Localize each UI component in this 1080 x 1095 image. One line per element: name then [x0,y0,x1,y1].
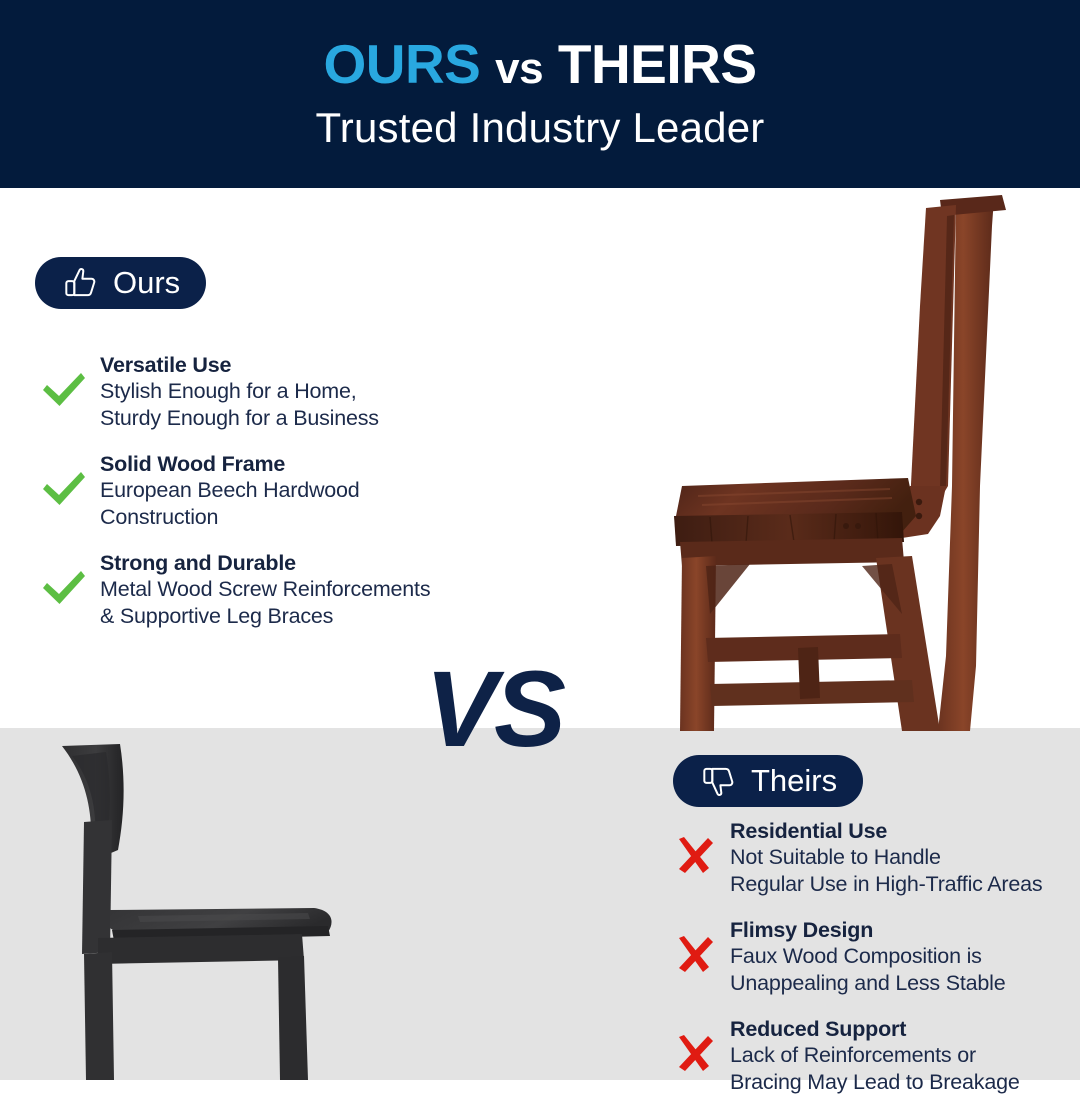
cross-icon [668,1016,720,1074]
check-icon [38,352,90,410]
item-desc-line: Construction [100,504,360,530]
title-theirs-word: THEIRS [558,33,757,95]
item-desc-line: Faux Wood Composition is [730,943,1006,969]
item-title: Reduced Support [730,1016,1020,1042]
ours-feature-list: Versatile Use Stylish Enough for a Home,… [38,352,538,629]
item-title: Flimsy Design [730,917,1006,943]
list-item: Residential Use Not Suitable to Handle R… [668,818,1080,897]
item-title: Strong and Durable [100,550,430,576]
item-desc-line: Sturdy Enough for a Business [100,405,379,431]
list-item-text: Solid Wood Frame European Beech Hardwood… [90,451,360,530]
list-item: Solid Wood Frame European Beech Hardwood… [38,451,538,530]
black-chair-image [28,722,388,1080]
list-item-text: Strong and Durable Metal Wood Screw Rein… [90,550,430,629]
page-title: OURS vs THEIRS [323,36,756,94]
wooden-chair-image [640,186,1080,731]
list-item-text: Flimsy Design Faux Wood Composition is U… [720,917,1006,996]
ours-badge-label: Ours [113,265,180,301]
thumbs-up-icon [61,264,99,302]
ours-badge[interactable]: Ours [35,257,206,309]
thumbs-down-icon [699,762,737,800]
list-item-text: Residential Use Not Suitable to Handle R… [720,818,1042,897]
title-ours-word: OURS [323,33,480,95]
title-vs-word: vs [495,44,543,93]
check-icon [38,451,90,509]
theirs-feature-list: Residential Use Not Suitable to Handle R… [668,818,1080,1095]
list-item-text: Reduced Support Lack of Reinforcements o… [720,1016,1020,1095]
item-desc-line: European Beech Hardwood [100,477,360,503]
theirs-badge-label: Theirs [751,763,837,799]
item-desc-line: Lack of Reinforcements or [730,1042,1020,1068]
cross-icon [668,917,720,975]
item-desc-line: Not Suitable to Handle [730,844,1042,870]
header-banner: OURS vs THEIRS Trusted Industry Leader [0,0,1080,188]
item-desc-line: Stylish Enough for a Home, [100,378,379,404]
list-item: Flimsy Design Faux Wood Composition is U… [668,917,1080,996]
versus-label: VS [425,655,563,763]
list-item: Reduced Support Lack of Reinforcements o… [668,1016,1080,1095]
list-item: Versatile Use Stylish Enough for a Home,… [38,352,538,431]
item-title: Versatile Use [100,352,379,378]
item-desc-line: Bracing May Lead to Breakage [730,1069,1020,1095]
item-desc-line: & Supportive Leg Braces [100,603,430,629]
item-desc-line: Unappealing and Less Stable [730,970,1006,996]
check-icon [38,550,90,608]
item-title: Residential Use [730,818,1042,844]
list-item: Strong and Durable Metal Wood Screw Rein… [38,550,538,629]
item-desc-line: Metal Wood Screw Reinforcements [100,576,430,602]
item-desc-line: Regular Use in High-Traffic Areas [730,871,1042,897]
theirs-badge[interactable]: Theirs [673,755,863,807]
page-subtitle: Trusted Industry Leader [316,104,765,152]
list-item-text: Versatile Use Stylish Enough for a Home,… [90,352,379,431]
cross-icon [668,818,720,876]
item-title: Solid Wood Frame [100,451,360,477]
